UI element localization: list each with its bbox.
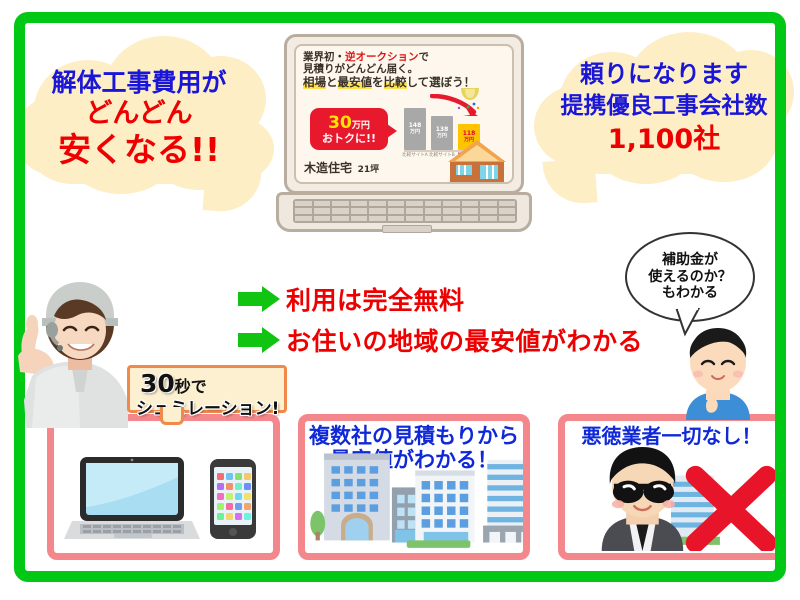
shady-contractor-with-x-icon xyxy=(565,445,782,551)
benefit-line-2: お住いの地域の最安値がわかる xyxy=(238,322,643,358)
house-type-label: 木造住宅 xyxy=(304,161,352,175)
right-speech-bubble: 頼りになります 提携優良工事会社数 1,100社 xyxy=(530,32,798,200)
laptop-illustration: 業界初・逆オークションで 見積りがどんどん届く。 相場と最安値を比較して選ぼう！… xyxy=(276,34,532,234)
panel-devices xyxy=(47,414,280,560)
headline-part-a: 業界初・ xyxy=(303,51,345,63)
right-bubble-line1: 頼りになります xyxy=(530,62,798,87)
benefit-text-2: お住いの地域の最安値がわかる xyxy=(286,322,643,358)
thought-bubble-text: 補助金が 使えるのか？ もわかる xyxy=(625,232,755,322)
headline-part-c: で xyxy=(419,51,430,63)
headline-lowest-price: 最安値 xyxy=(338,75,373,89)
laptop-base xyxy=(276,192,532,232)
headline-market-price: 相場 xyxy=(303,75,326,89)
left-bubble-line1: 解体工事費用が xyxy=(8,70,270,97)
headline-reverse-auction: 逆オークション xyxy=(345,51,419,63)
man-thumbs-up-illustration xyxy=(672,320,764,420)
benefit-text-1: 利用は完全無料 xyxy=(286,281,465,317)
chart-bar: 148 万円 xyxy=(404,108,426,150)
savings-badge: 30万円 おトクに!! xyxy=(310,108,388,150)
left-bubble-line2: どんどん xyxy=(8,100,270,129)
headline-and: と xyxy=(326,75,338,89)
wooden-house-icon xyxy=(446,138,508,182)
cloud-tail xyxy=(543,158,598,206)
callout-line2: シュミレーション! xyxy=(136,394,279,419)
worker-woman-photo xyxy=(10,268,145,428)
thought-line1: 補助金が xyxy=(662,252,718,269)
right-bubble-line3: 1,100社 xyxy=(530,126,798,155)
benefit-line-1: 利用は完全無料 xyxy=(238,281,465,317)
left-bubble-line3: 安くなる!! xyxy=(8,133,270,168)
thought-line3: もわかる xyxy=(662,285,718,302)
thought-line2: 使えるのか？ xyxy=(648,269,732,286)
panel-multiple-quotes: 複数社の見積もりから 最安値がわかる！ xyxy=(298,414,530,560)
house-size-label: 21坪 xyxy=(358,165,380,175)
laptop-and-smartphone-icon xyxy=(54,445,273,551)
screen-headline: 業界初・逆オークションで 見積りがどんどん届く。 相場と最安値を比較して選ぼう！ xyxy=(303,51,507,89)
green-arrow-icon xyxy=(238,286,280,312)
panel-no-bad-contractors: 悪徳業者一切なし！ xyxy=(558,414,785,560)
savings-amount-row: 30万円 xyxy=(310,115,388,132)
party-cracker-icon xyxy=(456,86,484,112)
office-buildings-icon xyxy=(305,445,530,551)
savings-amount: 30 xyxy=(328,113,352,133)
savings-unit: 万円 xyxy=(352,121,370,131)
headline-compare: 比較 xyxy=(384,75,407,89)
green-arrow-icon xyxy=(238,327,280,353)
advertisement-banner: 解体工事費用が どんどん 安くなる!! 頼りになります 提携優良工事会社数 1,… xyxy=(0,0,800,600)
savings-caption: おトクに!! xyxy=(310,133,388,144)
laptop-keyboard xyxy=(293,199,517,223)
laptop-lid: 業界初・逆オークションで 見積りがどんどん届く。 相場と最安値を比較して選ぼう！… xyxy=(284,34,524,194)
simulation-callout: 30秒で シュミレーション! xyxy=(127,365,287,413)
headline-wo: を xyxy=(372,75,384,89)
subsidy-thought-bubble: 補助金が 使えるのか？ もわかる xyxy=(625,232,755,322)
left-speech-bubble: 解体工事費用が どんどん 安くなる!! xyxy=(8,34,270,210)
right-bubble-line2: 提携優良工事会社数 xyxy=(530,94,798,118)
cloud-tail xyxy=(203,168,262,214)
laptop-trackpad xyxy=(382,225,432,233)
screen-footer: 木造住宅 21坪 xyxy=(304,157,379,176)
bar-unit: 万円 xyxy=(404,130,426,135)
laptop-screen: 業界初・逆オークションで 見積りがどんどん届く。 相場と最安値を比較して選ぼう！… xyxy=(294,44,514,184)
